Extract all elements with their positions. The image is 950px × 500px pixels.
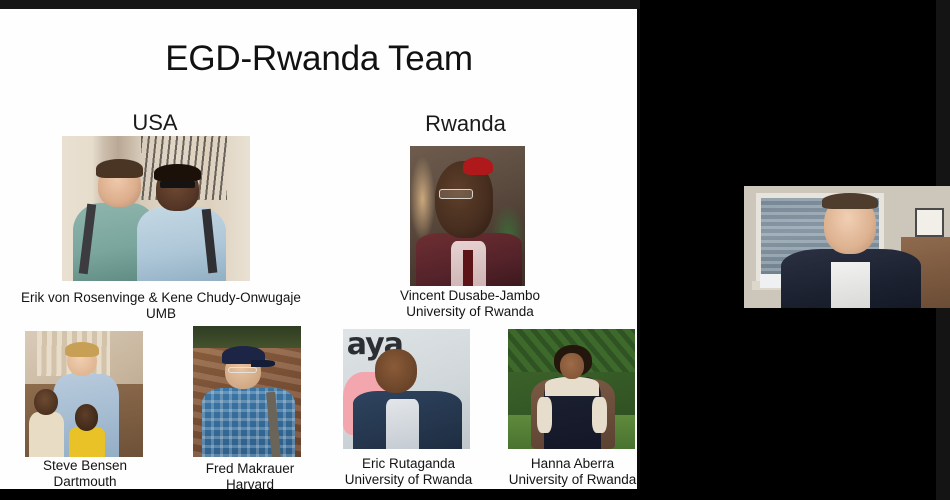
photo-caption-erik-and-kene: Erik von Rosenvinge & Kene Chudy-Onwugaj… <box>0 290 326 322</box>
child-body <box>29 412 64 457</box>
person-hair <box>154 164 201 181</box>
photo-eric-rutaganda: aya Smiling man in navy suit in front of… <box>343 329 470 449</box>
shared-content-top-bar <box>0 0 640 9</box>
dress-sleeve <box>592 397 607 433</box>
column-heading-usa: USA <box>95 110 215 136</box>
photo-caption-eric-rutaganda: Eric Rutaganda University of Rwanda <box>336 456 481 488</box>
shared-slide[interactable]: EGD-Rwanda Team USA Rwanda Two men smili… <box>0 9 638 489</box>
photo-vincent-dusabe-jambo: Man with glasses and red cap in dark sui… <box>410 146 525 286</box>
slide-right-edge <box>637 9 640 489</box>
photo-hanna-aberra: Woman seated outdoors in a navy and crea… <box>508 329 635 449</box>
video-conference-window: EGD-Rwanda Team USA Rwanda Two men smili… <box>0 0 950 500</box>
tissue-box <box>760 274 781 289</box>
glasses-icon <box>160 181 196 188</box>
photo-fred-makrauer: Man in navy cap and blue plaid shirt by … <box>193 326 301 457</box>
person-shirt <box>386 399 419 449</box>
photo-caption-vincent-dusabe-jambo: Vincent Dusabe-Jambo University of Rwand… <box>370 288 570 320</box>
photo-caption-hanna-aberra: Hanna Aberra University of Rwanda <box>500 456 638 488</box>
photo-steve-bensen: Man seated holding two young children <box>25 331 143 457</box>
hedge <box>193 326 301 348</box>
child-head <box>34 389 58 415</box>
photo-caption-steve-bensen: Steve Bensen Dartmouth <box>10 458 160 489</box>
dress-sleeve <box>537 397 552 433</box>
cap-brim <box>251 360 275 367</box>
webcam-tile-presenter[interactable] <box>744 186 950 308</box>
photo-caption-fred-makrauer: Fred Makrauer Harvard <box>180 461 320 489</box>
child-body <box>69 427 106 457</box>
page-title: EGD-Rwanda Team <box>0 39 638 79</box>
presenter-shirt <box>831 262 870 308</box>
person-hair <box>65 342 99 357</box>
person-shirt <box>202 388 295 457</box>
dress-collar <box>545 377 600 396</box>
person-head <box>375 349 417 392</box>
photo-erik-and-kene: Two men smiling together in an endoscopy… <box>62 136 250 281</box>
wall-picture-frame <box>915 208 944 237</box>
glasses-icon <box>228 367 257 374</box>
background-light <box>410 157 435 241</box>
person-cap <box>463 157 493 175</box>
column-heading-rwanda: Rwanda <box>403 111 528 137</box>
child-head <box>75 404 99 430</box>
person-head <box>560 353 584 379</box>
person-hair <box>96 159 143 178</box>
person-tie <box>463 250 473 286</box>
glasses-icon <box>439 189 474 199</box>
presenter-hair <box>822 193 878 209</box>
